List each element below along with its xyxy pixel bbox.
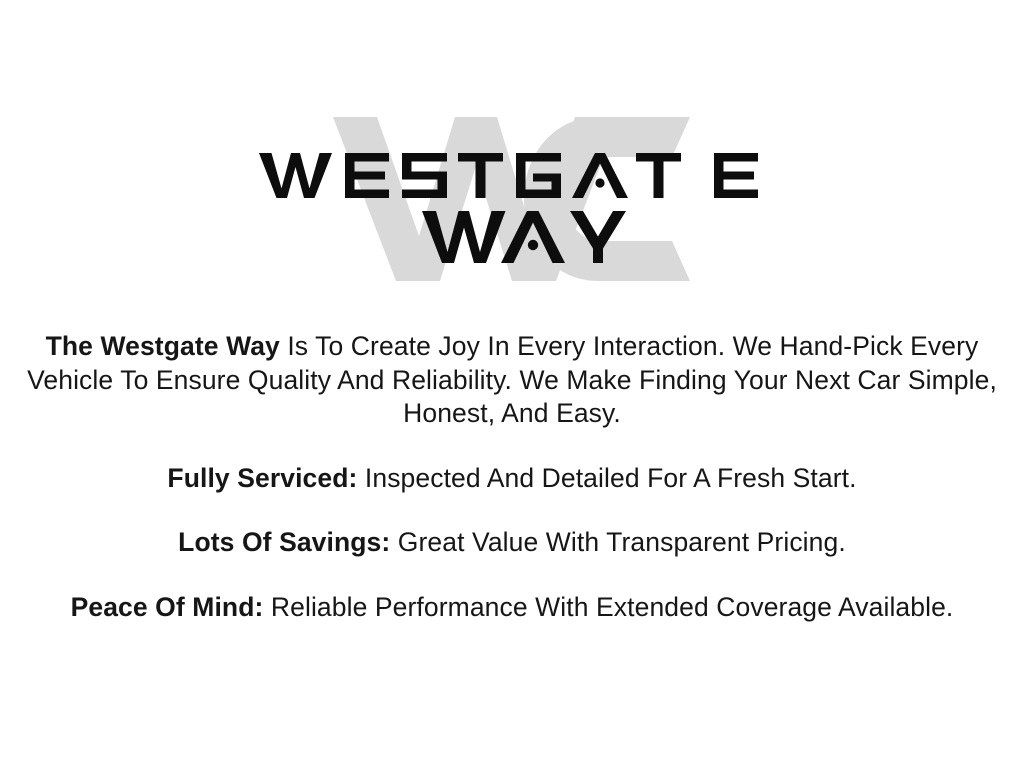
- point-fully-serviced-label: Fully Serviced:: [167, 463, 357, 493]
- brand-logo-block: [0, 100, 1024, 296]
- point-peace-of-mind-label: Peace Of Mind:: [71, 592, 264, 622]
- spacer: [0, 560, 1024, 591]
- point-lots-of-savings-label: Lots Of Savings:: [178, 527, 390, 557]
- slide-canvas: The Westgate Way Is To Create Joy In Eve…: [0, 0, 1024, 768]
- point-lots-of-savings-text: Great Value With Transparent Pricing.: [390, 527, 845, 557]
- spacer: [0, 495, 1024, 526]
- point-peace-of-mind: Peace Of Mind: Reliable Performance With…: [0, 591, 1024, 625]
- point-lots-of-savings: Lots Of Savings: Great Value With Transp…: [0, 526, 1024, 560]
- spacer: [0, 431, 1024, 462]
- mission-statement: The Westgate Way Is To Create Joy In Eve…: [0, 330, 1024, 431]
- point-fully-serviced-text: Inspected And Detailed For A Fresh Start…: [357, 463, 856, 493]
- point-fully-serviced: Fully Serviced: Inspected And Detailed F…: [0, 462, 1024, 496]
- point-peace-of-mind-text: Reliable Performance With Extended Cover…: [263, 592, 953, 622]
- body-copy: The Westgate Way Is To Create Joy In Eve…: [0, 330, 1024, 624]
- watermark-letter-c: [524, 117, 690, 281]
- mission-statement-bold-prefix: The Westgate Way: [46, 331, 280, 361]
- westgate-way-logo: [0, 100, 1024, 296]
